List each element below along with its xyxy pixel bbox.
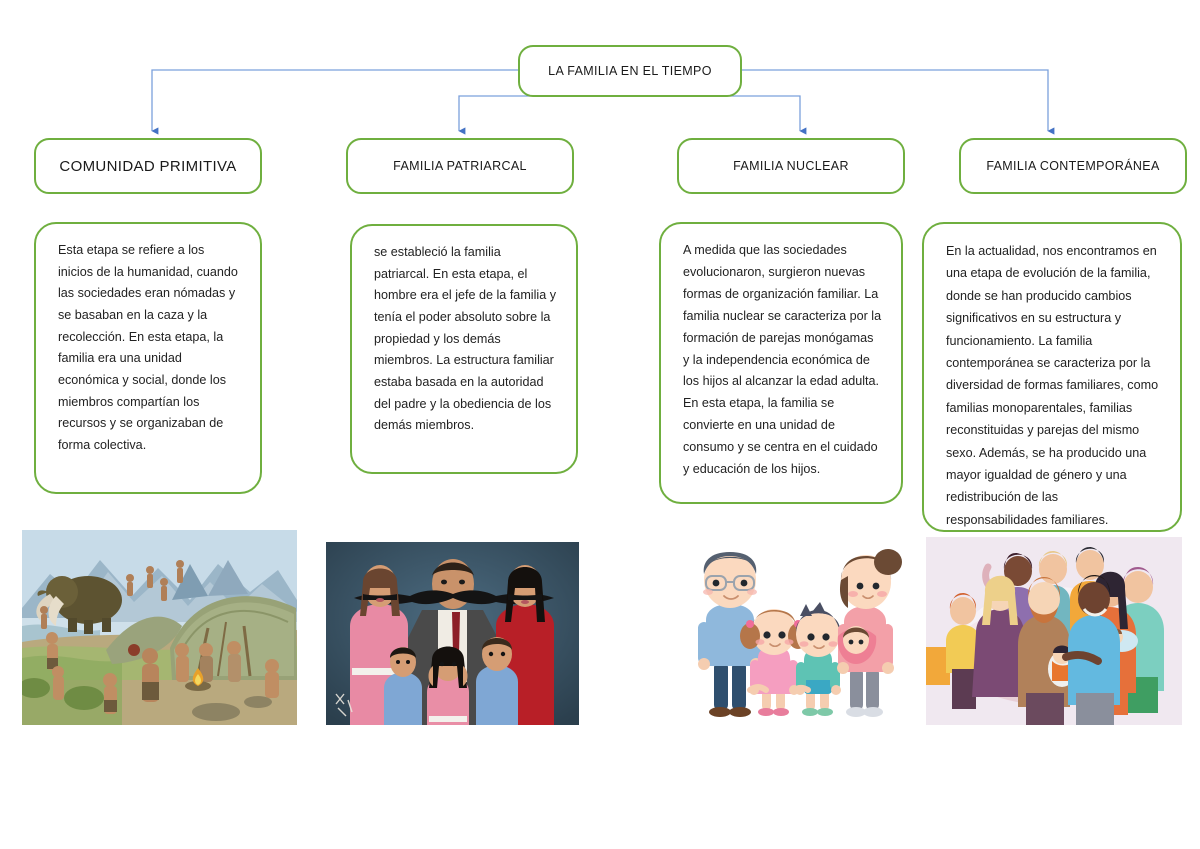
connector-to-comunidad-primitiva: [152, 70, 518, 131]
connector-to-familia-nuclear: [730, 96, 800, 131]
category-node-label: FAMILIA PATRIARCAL: [385, 159, 535, 173]
description-box-familia-nuclear: A medida que las sociedades evolucionaro…: [659, 222, 903, 504]
connector-to-familia-patriarcal: [459, 96, 530, 131]
category-node-familia-contemporanea[interactable]: FAMILIA CONTEMPORÁNEA: [959, 138, 1187, 194]
category-node-familia-patriarcal[interactable]: FAMILIA PATRIARCAL: [346, 138, 574, 194]
category-node-label: FAMILIA NUCLEAR: [725, 159, 857, 173]
connector-to-familia-contemporanea: [742, 70, 1048, 131]
category-node-familia-nuclear[interactable]: FAMILIA NUCLEAR: [677, 138, 905, 194]
illustration-familia-patriarcal: [326, 542, 579, 725]
description-box-familia-contemporanea: En la actualidad, nos encontramos en una…: [922, 222, 1182, 532]
root-node-label: LA FAMILIA EN EL TIEMPO: [548, 64, 712, 78]
category-node-label: FAMILIA CONTEMPORÁNEA: [978, 159, 1167, 173]
description-text: se estableció la familia patriarcal. En …: [374, 242, 558, 437]
category-node-comunidad-primitiva[interactable]: COMUNIDAD PRIMITIVA: [34, 138, 262, 194]
description-box-comunidad-primitiva: Esta etapa se refiere a los inicios de l…: [34, 222, 262, 494]
category-node-label: COMUNIDAD PRIMITIVA: [51, 158, 244, 175]
illustration-familia-contemporanea: [926, 537, 1182, 725]
description-box-familia-patriarcal: se estableció la familia patriarcal. En …: [350, 224, 578, 474]
diagram-canvas: LA FAMILIA EN EL TIEMPO COMUNIDAD PRIMIT…: [0, 0, 1200, 849]
illustration-familia-nuclear: [662, 540, 917, 725]
description-text: A medida que las sociedades evolucionaro…: [683, 240, 883, 481]
illustration-comunidad-primitiva: [22, 530, 297, 725]
root-node-la-familia-en-el-tiempo[interactable]: LA FAMILIA EN EL TIEMPO: [518, 45, 742, 97]
description-text: Esta etapa se refiere a los inicios de l…: [58, 240, 242, 457]
description-text: En la actualidad, nos encontramos en una…: [946, 240, 1162, 531]
